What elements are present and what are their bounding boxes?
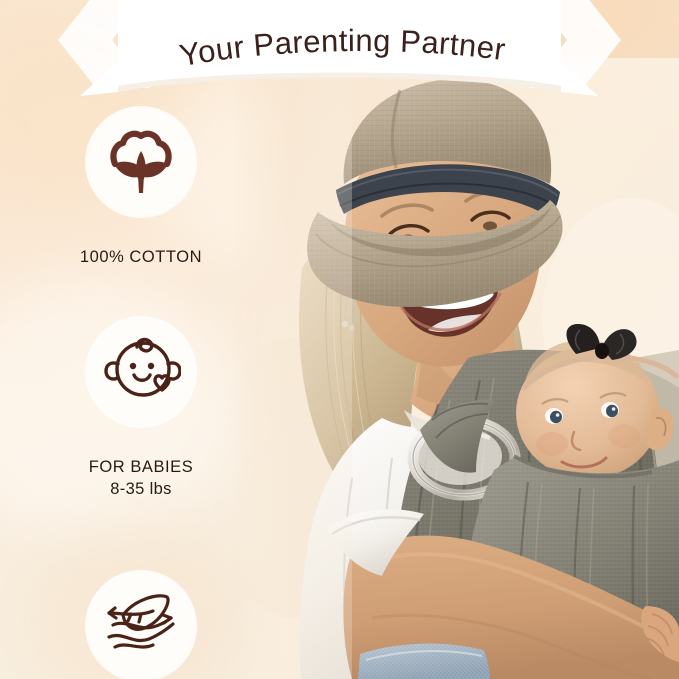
cotton-boll-icon: [102, 123, 180, 201]
feature-badge: [85, 570, 197, 679]
feature-lightweight: LIGHTWEIGHT FABRIC: [34, 570, 248, 679]
feature-badge: [85, 106, 197, 218]
feature-label: FOR BABIES: [89, 458, 194, 476]
feature-list: 100% COTTON: [34, 106, 248, 679]
feature-caption: 100% COTTON: [80, 225, 202, 269]
baby-face-icon: [101, 335, 181, 409]
feature-cotton: 100% COTTON: [34, 106, 248, 269]
feature-label: 100% COTTON: [80, 248, 202, 266]
product-photo: [232, 58, 679, 679]
feather-lightweight-icon: [101, 591, 181, 661]
feature-badge: [85, 316, 197, 428]
product-infographic: Your Parenting Partner: [0, 0, 679, 679]
feature-sublabel: 8-35 lbs: [89, 479, 194, 501]
feature-babies: FOR BABIES 8-35 lbs: [34, 316, 248, 523]
feature-caption: FOR BABIES 8-35 lbs: [89, 435, 194, 523]
banner-ribbon: Your Parenting Partner: [0, 0, 679, 108]
